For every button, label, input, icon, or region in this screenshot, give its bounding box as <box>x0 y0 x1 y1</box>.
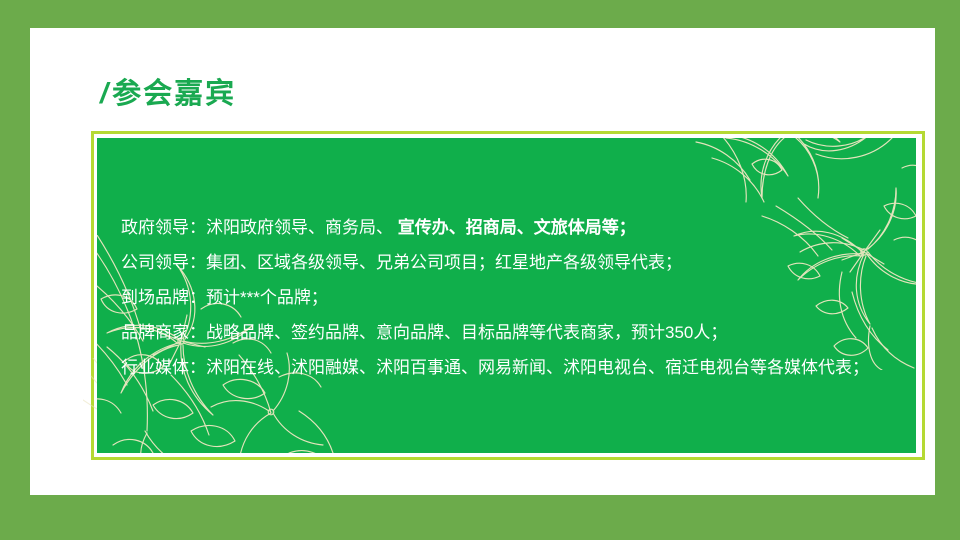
list-item: 到场品牌：预计***个品牌； <box>121 280 900 315</box>
guest-line-label: 政府领导： <box>121 218 206 237</box>
list-item: 行业媒体：沭阳在线、沭阳融媒、沭阳百事通、网易新闻、沭阳电视台、宿迁电视台等各媒… <box>121 350 900 385</box>
guest-line-emphasis: 宣传办、招商局、文旅体局等 <box>398 218 619 237</box>
list-item: 品牌商家：战略品牌、签约品牌、意向品牌、目标品牌等代表商家，预计350人； <box>121 315 900 350</box>
guest-line-normal: 沭阳政府领导、商务局、 <box>206 218 398 237</box>
page-title-text: 参会嘉宾 <box>112 78 236 110</box>
guest-line-normal: 预计***个品牌； <box>206 288 328 307</box>
list-item: 政府领导：沭阳政府领导、商务局、 宣传办、招商局、文旅体局等； <box>121 210 900 245</box>
guest-line-normal: 战略品牌、签约品牌、意向品牌、目标品牌等代表商家，预计350人； <box>206 323 727 342</box>
slide-canvas: /参会嘉宾 <box>0 0 960 540</box>
guest-line-label: 品牌商家： <box>121 323 206 342</box>
title-slash-icon: / <box>100 78 112 110</box>
guest-line-label: 到场品牌： <box>121 288 206 307</box>
guest-list: 政府领导：沭阳政府领导、商务局、 宣传办、招商局、文旅体局等； 公司领导：集团、… <box>121 210 900 385</box>
slide-white-page: /参会嘉宾 <box>30 28 935 495</box>
guest-line-label: 行业媒体： <box>121 358 206 377</box>
guest-line-tail: ； <box>619 218 636 237</box>
page-title: /参会嘉宾 <box>100 74 250 114</box>
list-item: 公司领导：集团、区域各级领导、兄弟公司项目；红星地产各级领导代表； <box>121 245 900 280</box>
guest-line-label: 公司领导： <box>121 253 206 272</box>
guest-line-normal: 集团、区域各级领导、兄弟公司项目；红星地产各级领导代表； <box>206 253 682 272</box>
content-panel: 政府领导：沭阳政府领导、商务局、 宣传办、招商局、文旅体局等； 公司领导：集团、… <box>97 138 916 453</box>
guest-line-normal: 沭阳在线、沭阳融媒、沭阳百事通、网易新闻、沭阳电视台、宿迁电视台等各媒体代表； <box>206 358 869 377</box>
